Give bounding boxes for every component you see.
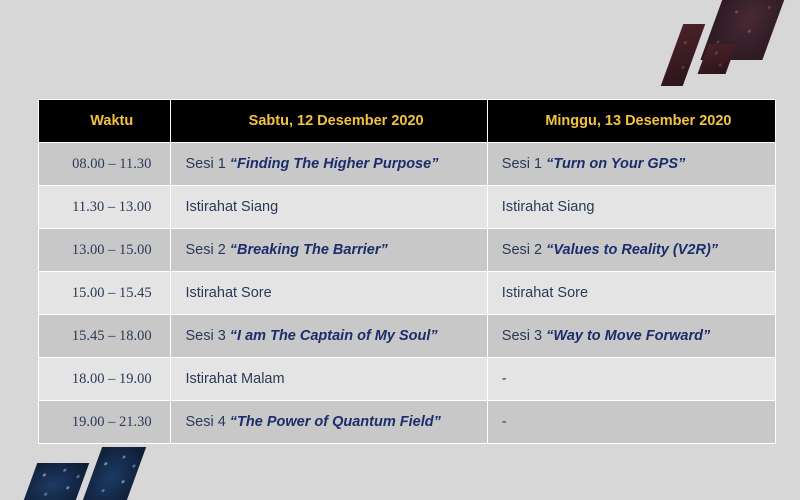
column-header-sunday: Minggu, 13 Desember 2020 [488,100,775,142]
session-prefix: Istirahat Sore [185,285,271,301]
table-header-row: Waktu Sabtu, 12 Desember 2020 Minggu, 13… [39,100,775,142]
cell-time: 18.00 – 19.00 [39,358,170,400]
cell-sunday: Sesi 1 “Turn on Your GPS” [488,143,775,185]
cell-saturday: Sesi 2 “Breaking The Barrier” [171,229,486,271]
table-header: Waktu Sabtu, 12 Desember 2020 Minggu, 13… [39,100,775,142]
session-prefix: Istirahat Siang [185,199,278,215]
table-row: 19.00 – 21.30Sesi 4 “The Power of Quantu… [39,401,775,443]
cell-time: 11.30 – 13.00 [39,186,170,228]
session-title: “Way to Move Forward” [546,328,710,344]
table-body: 08.00 – 11.30Sesi 1 “Finding The Higher … [39,143,775,443]
session-prefix: Istirahat Malam [185,371,284,387]
session-prefix: Sesi 1 [185,156,229,172]
session-prefix: Sesi 3 [185,328,229,344]
cell-saturday: Sesi 3 “I am The Captain of My Soul” [171,315,486,357]
cell-time: 08.00 – 11.30 [39,143,170,185]
top-right-decoration [650,0,800,86]
top-right-nebula-bar [661,24,706,86]
session-prefix: Sesi 1 [502,156,546,172]
bottom-left-decoration [0,445,140,500]
column-header-waktu: Waktu [39,100,170,142]
cell-time: 19.00 – 21.30 [39,401,170,443]
session-title: “The Power of Quantum Field” [230,414,441,430]
top-right-nebula-small [698,44,737,74]
slide-canvas: Waktu Sabtu, 12 Desember 2020 Minggu, 13… [0,0,800,500]
session-title: “Turn on Your GPS” [546,156,685,172]
cell-sunday: Sesi 3 “Way to Move Forward” [488,315,775,357]
table-row: 15.45 – 18.00Sesi 3 “I am The Captain of… [39,315,775,357]
cell-sunday: - [488,401,775,443]
cell-saturday: Sesi 1 “Finding The Higher Purpose” [171,143,486,185]
bottom-left-starfield-left [23,463,90,500]
session-title: “Finding The Higher Purpose” [230,156,439,172]
session-prefix: - [502,371,507,387]
top-right-nebula-large [700,0,785,60]
cell-saturday: Istirahat Malam [171,358,486,400]
session-prefix: Sesi 4 [185,414,229,430]
column-header-saturday: Sabtu, 12 Desember 2020 [171,100,486,142]
cell-time: 15.00 – 15.45 [39,272,170,314]
session-prefix: Sesi 2 [502,242,546,258]
event-schedule-table: Waktu Sabtu, 12 Desember 2020 Minggu, 13… [38,99,776,444]
table-row: 11.30 – 13.00Istirahat SiangIstirahat Si… [39,186,775,228]
cell-sunday: Sesi 2 “Values to Reality (V2R)” [488,229,775,271]
table-row: 18.00 – 19.00Istirahat Malam- [39,358,775,400]
session-title: “Values to Reality (V2R)” [546,242,718,258]
cell-saturday: Istirahat Siang [171,186,486,228]
cell-time: 13.00 – 15.00 [39,229,170,271]
session-prefix: Sesi 2 [185,242,229,258]
cell-time: 15.45 – 18.00 [39,315,170,357]
session-prefix: Istirahat Siang [502,199,595,215]
session-prefix: Sesi 3 [502,328,546,344]
cell-saturday: Istirahat Sore [171,272,486,314]
session-title: “Breaking The Barrier” [230,242,388,258]
session-title: “I am The Captain of My Soul” [230,328,438,344]
table-row: 13.00 – 15.00Sesi 2 “Breaking The Barrie… [39,229,775,271]
cell-sunday: Istirahat Sore [488,272,775,314]
table-row: 08.00 – 11.30Sesi 1 “Finding The Higher … [39,143,775,185]
cell-sunday: - [488,358,775,400]
bottom-left-starfield-right [82,447,146,500]
table-row: 15.00 – 15.45Istirahat SoreIstirahat Sor… [39,272,775,314]
session-prefix: Istirahat Sore [502,285,588,301]
session-prefix: - [502,414,507,430]
cell-sunday: Istirahat Siang [488,186,775,228]
cell-saturday: Sesi 4 “The Power of Quantum Field” [171,401,486,443]
